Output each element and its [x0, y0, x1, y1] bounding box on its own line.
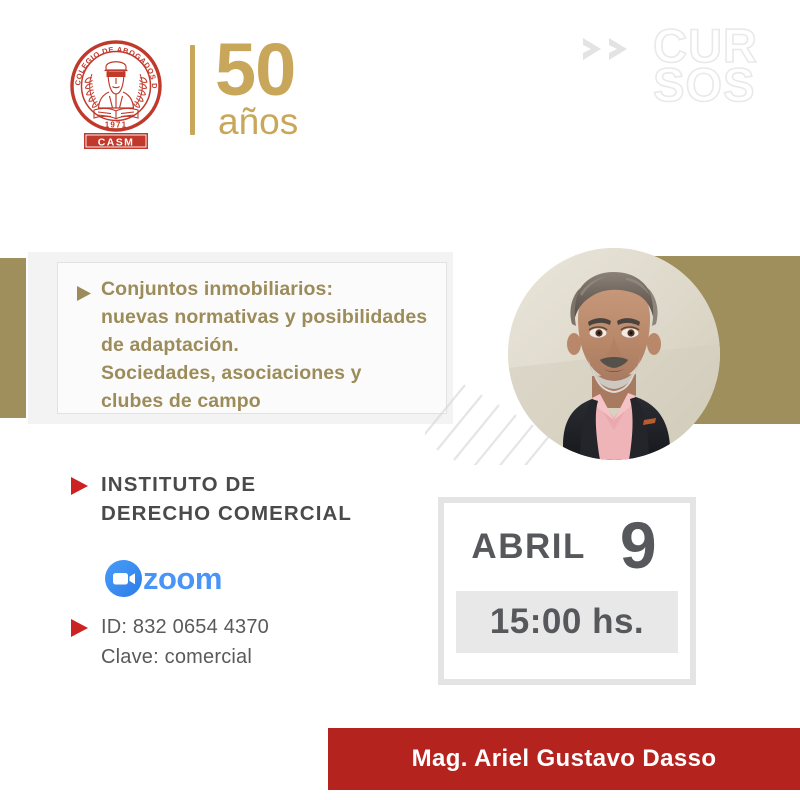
institute-block: INSTITUTO DE DERECHO COMERCIAL	[70, 470, 352, 528]
gold-accent-bar-left	[0, 258, 26, 418]
double-chevron-right-icon	[581, 36, 639, 67]
institute-line-1: INSTITUTO DE	[101, 470, 352, 499]
casm-seal-logo: COLEGIO DE ABOGADOS DE SAN MARTIN	[64, 34, 168, 152]
speaker-name-bar: Mag. Ariel Gustavo Dasso	[328, 728, 800, 790]
zoom-logo: zoom	[105, 560, 222, 597]
course-title-line-4: Sociedades, asociaciones y	[101, 360, 427, 388]
speaker-portrait-photo	[508, 248, 720, 460]
anniversary-badge: 50 años	[190, 40, 298, 140]
triangle-right-icon	[70, 618, 89, 672]
speaker-name: Mag. Ariel Gustavo Dasso	[412, 745, 717, 773]
course-title-line-2: nuevas normativas y posibilidades	[101, 304, 427, 332]
course-title-line-3: de adaptación.	[101, 332, 427, 360]
poster-header: COLEGIO DE ABOGADOS DE SAN MARTIN	[0, 0, 800, 180]
event-time: 15:00 hs.	[490, 602, 644, 642]
course-title-line-5: clubes de campo	[101, 388, 427, 416]
zoom-passcode: Clave: comercial	[101, 642, 269, 672]
category-line-2: SOS	[653, 65, 758, 104]
zoom-meeting-id: ID: 832 0654 4370	[101, 612, 269, 642]
institute-line-2: DERECHO COMERCIAL	[101, 499, 352, 528]
anniversary-number: 50	[215, 40, 298, 101]
zoom-camera-icon	[105, 560, 142, 597]
event-date-box: ABRIL 9 15:00 hs.	[438, 497, 696, 685]
anniversary-divider	[190, 45, 195, 135]
triangle-right-icon	[76, 285, 92, 415]
event-time-band: 15:00 hs.	[456, 591, 678, 653]
zoom-credentials: ID: 832 0654 4370 Clave: comercial	[70, 612, 269, 672]
zoom-wordmark: zoom	[143, 563, 222, 594]
triangle-right-icon	[70, 476, 89, 528]
event-day: 9	[620, 512, 657, 578]
course-poster: COLEGIO DE ABOGADOS DE SAN MARTIN	[0, 0, 800, 800]
anniversary-word: años	[218, 103, 298, 140]
event-month: ABRIL	[471, 527, 585, 567]
svg-text:CASM: CASM	[98, 136, 135, 148]
category-label: CUR SOS	[581, 26, 758, 105]
course-title-line-1: Conjuntos inmobiliarios:	[101, 276, 427, 304]
svg-text:1971: 1971	[105, 121, 128, 130]
